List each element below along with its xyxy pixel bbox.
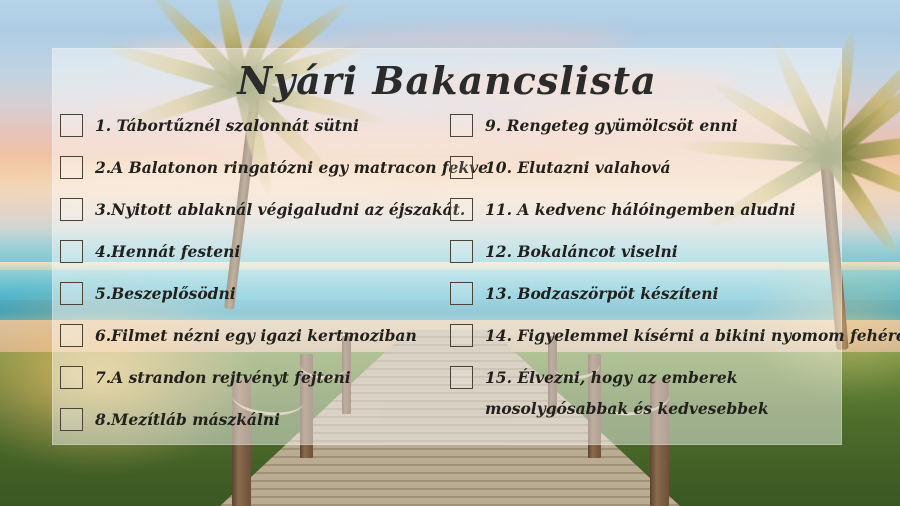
list-item[interactable]: 15. Élvezni, hogy az emberek mosolygósab…	[450, 362, 842, 424]
list-item-label: 6.Filmet nézni egy igazi kertmoziban	[95, 320, 417, 351]
checkbox-icon[interactable]	[60, 240, 83, 263]
list-item[interactable]: 13. Bodzaszörpöt készíteni	[450, 278, 842, 310]
list-item[interactable]: 1. Tábortűznél szalonnát sütni	[60, 110, 452, 142]
list-item-label: 5.Beszeplősödni	[95, 278, 236, 309]
list-card: Nyári Bakancslista 1. Tábortűznél szalon…	[52, 48, 842, 445]
list-item[interactable]: 10. Elutazni valahová	[450, 152, 842, 184]
checkbox-icon[interactable]	[60, 324, 83, 347]
list-item-label: 1. Tábortűznél szalonnát sütni	[95, 110, 359, 141]
list-item[interactable]: 8.Mezítláb mászkálni	[60, 404, 452, 436]
list-item-label: 8.Mezítláb mászkálni	[95, 404, 280, 435]
list-item[interactable]: 5.Beszeplősödni	[60, 278, 452, 310]
list-item[interactable]: 3.Nyitott ablaknál végigaludni az éjszak…	[60, 194, 452, 226]
checkbox-icon[interactable]	[450, 240, 473, 263]
cloud	[330, 30, 630, 50]
list-item-label: 10. Elutazni valahová	[485, 152, 671, 183]
list-item[interactable]: 7.A strandon rejtvényt fejteni	[60, 362, 452, 394]
checkbox-icon[interactable]	[60, 198, 83, 221]
list-item-label: 13. Bodzaszörpöt készíteni	[485, 278, 718, 309]
checkbox-icon[interactable]	[450, 156, 473, 179]
checkbox-icon[interactable]	[450, 324, 473, 347]
checkbox-icon[interactable]	[450, 198, 473, 221]
checkbox-icon[interactable]	[450, 114, 473, 137]
bucket-list-poster: Nyári Bakancslista 1. Tábortűznél szalon…	[0, 0, 900, 506]
checkbox-icon[interactable]	[60, 282, 83, 305]
list-item-label: 9. Rengeteg gyümölcsöt enni	[485, 110, 738, 141]
list-item-label: 4.Hennát festeni	[95, 236, 240, 267]
list-item-label: 12. Bokaláncot viselni	[485, 236, 678, 267]
checklist-column-left: 1. Tábortűznél szalonnát sütni 2.A Balat…	[60, 110, 452, 446]
checkbox-icon[interactable]	[60, 114, 83, 137]
list-item-label: 2.A Balatonon ringatózni egy matracon fe…	[95, 152, 488, 183]
list-item[interactable]: 6.Filmet nézni egy igazi kertmoziban	[60, 320, 452, 352]
list-item[interactable]: 14. Figyelemmel kísérni a bikini nyomom …	[450, 320, 842, 352]
checkbox-icon[interactable]	[60, 156, 83, 179]
list-item[interactable]: 2.A Balatonon ringatózni egy matracon fe…	[60, 152, 452, 184]
list-item[interactable]: 12. Bokaláncot viselni	[450, 236, 842, 268]
checkbox-icon[interactable]	[450, 366, 473, 389]
checkbox-icon[interactable]	[450, 282, 473, 305]
page-title: Nyári Bakancslista	[52, 58, 842, 103]
list-item-label: 7.A strandon rejtvényt fejteni	[95, 362, 351, 393]
checkbox-icon[interactable]	[60, 408, 83, 431]
list-item[interactable]: 9. Rengeteg gyümölcsöt enni	[450, 110, 842, 142]
list-item-label: 11. A kedvenc hálóingemben aludni	[485, 194, 796, 225]
checklist-column-right: 9. Rengeteg gyümölcsöt enni 10. Elutazni…	[450, 110, 842, 434]
list-item-label: 15. Élvezni, hogy az emberek mosolygósab…	[485, 362, 815, 424]
list-item-label: 14. Figyelemmel kísérni a bikini nyomom …	[485, 320, 900, 351]
list-item[interactable]: 4.Hennát festeni	[60, 236, 452, 268]
list-item-label: 3.Nyitott ablaknál végigaludni az éjszak…	[95, 194, 465, 225]
list-item[interactable]: 11. A kedvenc hálóingemben aludni	[450, 194, 842, 226]
checkbox-icon[interactable]	[60, 366, 83, 389]
